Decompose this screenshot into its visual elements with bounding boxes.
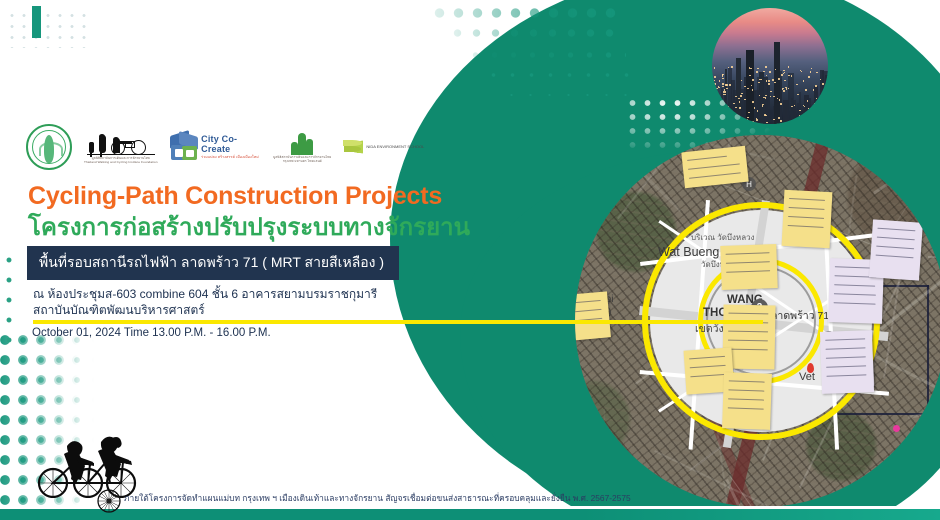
venue-line-1: ณ ห้องประชุมส-603 combine 604 ชั้น 6 อาค… bbox=[33, 286, 453, 302]
halftone-dots-row-4-icon bbox=[484, 64, 629, 84]
logo-bangkok-seal bbox=[26, 124, 72, 170]
footer-caption: ภายใต้โครงการจัดทำแผนแม่บท กรุงเทพ ฯ เมื… bbox=[124, 491, 631, 505]
map-sticky-note[interactable] bbox=[575, 433, 612, 473]
map-sticky-note[interactable] bbox=[820, 330, 874, 394]
accent-bar-icon bbox=[32, 6, 41, 38]
event-datetime: October 01, 2024 Time 13.00 P.M. - 16.00… bbox=[32, 327, 271, 339]
halftone-dots-row-3-icon bbox=[466, 44, 626, 66]
map-sticky-note[interactable] bbox=[722, 372, 772, 430]
two-cyclists-silhouette-icon bbox=[28, 420, 146, 498]
mahidol-mountain-icon bbox=[289, 131, 315, 155]
logo-row: มูลนิธิสถาบันการเดินและการจักรยานไทย Tha… bbox=[26, 124, 424, 170]
city-co-create-title: City Co-Create bbox=[201, 134, 261, 154]
nida-caption: NIDA ENVIRONMENT SCHOOL bbox=[366, 144, 424, 150]
map-pin-red-marker-icon[interactable] bbox=[807, 363, 814, 373]
map-sticky-note[interactable] bbox=[575, 291, 611, 340]
logo-twcf-caption-en: Thailand Walking and Cycling Institute F… bbox=[84, 160, 158, 164]
page-title-thai: โครงการก่อสร้างปรับปรุงระบบทางจักรยาน bbox=[28, 207, 470, 246]
logo-nida: NIDA ENVIRONMENT SCHOOL bbox=[343, 139, 424, 155]
bicycle-wheels-icon bbox=[96, 488, 126, 514]
halftone-dots-row-5-icon bbox=[502, 84, 632, 100]
bangkok-skyline-photo bbox=[712, 8, 828, 124]
city-co-create-cube-icon bbox=[170, 132, 198, 162]
halftone-dots-row-2-icon bbox=[448, 22, 624, 46]
yellow-connector-line bbox=[33, 320, 763, 324]
walking-cycling-figures-icon bbox=[87, 130, 155, 156]
footer-strip bbox=[0, 509, 940, 520]
map-sticky-note[interactable] bbox=[869, 219, 923, 280]
logo-twcf: มูลนิธิสถาบันการเดินและการจักรยานไทย Tha… bbox=[84, 130, 158, 164]
subtitle-banner-text: พื้นที่รอบสถานีรถไฟฟ้า ลาดพร้าว 71 ( MRT… bbox=[39, 252, 384, 274]
venue-line-2: สถาบันบัณฑิตพัฒนบริหารศาสตร์ bbox=[33, 302, 453, 318]
map-pin-pink-marker-icon[interactable] bbox=[893, 425, 900, 432]
dot-column-icon bbox=[2, 250, 14, 350]
logo-city-co-create: City Co-Create ร่วมแปลง สร้างสรรค์ เมือง… bbox=[170, 132, 262, 162]
map-sticky-note[interactable] bbox=[681, 146, 748, 188]
venue-block: ณ ห้องประชุมส-603 combine 604 ชั้น 6 อาค… bbox=[33, 286, 453, 318]
subtitle-banner: พื้นที่รอบสถานีรถไฟฟ้า ลาดพร้าว 71 ( MRT… bbox=[27, 246, 399, 280]
map-sticky-note[interactable] bbox=[720, 244, 778, 290]
logo-mahidol-caption-en: กรุงเทพ มหานคร ไทยแลนด์ bbox=[283, 159, 322, 163]
logo-mahidol: มูลนิธิสถาบันการเดินและการจักรยานไทย กรุ… bbox=[273, 131, 331, 163]
bangkok-seal-icon bbox=[26, 124, 72, 170]
presentation-slide: บริเวณ วัดบึงหลวง Wat Bueng Thong L วัดบ… bbox=[0, 0, 940, 520]
dot-grid-topleft-icon bbox=[6, 10, 86, 48]
map-sticky-note[interactable] bbox=[782, 190, 833, 248]
nida-leaf-icon bbox=[343, 139, 363, 155]
city-co-create-caption: ร่วมแปลง สร้างสรรค์ เมืองเมืองใหม่ bbox=[201, 154, 261, 160]
